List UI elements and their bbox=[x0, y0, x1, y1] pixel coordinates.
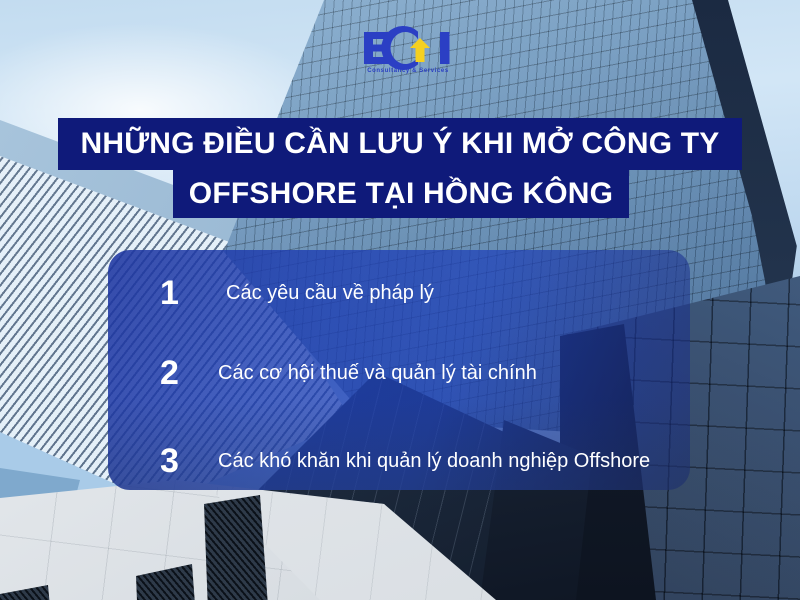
numbered-list-panel: 1 Các yêu cầu về pháp lý 2 Các cơ hội th… bbox=[108, 250, 690, 490]
title-line-1: NHỮNG ĐIỀU CẦN LƯU Ý KHI MỞ CÔNG TY bbox=[58, 118, 742, 170]
list-item-number: 3 bbox=[160, 444, 218, 478]
list-item: 2 Các cơ hội thuế và quản lý tài chính bbox=[108, 356, 690, 412]
eci-logo-tagline: Consultancy & Services bbox=[358, 68, 458, 74]
list-item: 3 Các khó khăn khi quản lý doanh nghiệp … bbox=[108, 444, 690, 490]
list-item-number: 1 bbox=[160, 276, 218, 310]
list-item: 1 Các yêu cầu về pháp lý bbox=[108, 276, 690, 332]
poster-canvas: Consultancy & Services NHỮNG ĐIỀU CẦN LƯ… bbox=[0, 0, 800, 600]
list-item-label: Các cơ hội thuế và quản lý tài chính bbox=[218, 356, 537, 388]
list-item-label: Các yêu cầu về pháp lý bbox=[218, 276, 434, 308]
list-item-label: Các khó khăn khi quản lý doanh nghiệp Of… bbox=[218, 444, 650, 476]
title-line-2: OFFSHORE TẠI HỒNG KÔNG bbox=[173, 170, 629, 218]
eci-logo[interactable]: Consultancy & Services bbox=[358, 26, 458, 84]
list-item-number: 2 bbox=[160, 356, 218, 390]
eci-logo-mark bbox=[358, 26, 458, 70]
numbered-list: 1 Các yêu cầu về pháp lý 2 Các cơ hội th… bbox=[108, 250, 690, 490]
